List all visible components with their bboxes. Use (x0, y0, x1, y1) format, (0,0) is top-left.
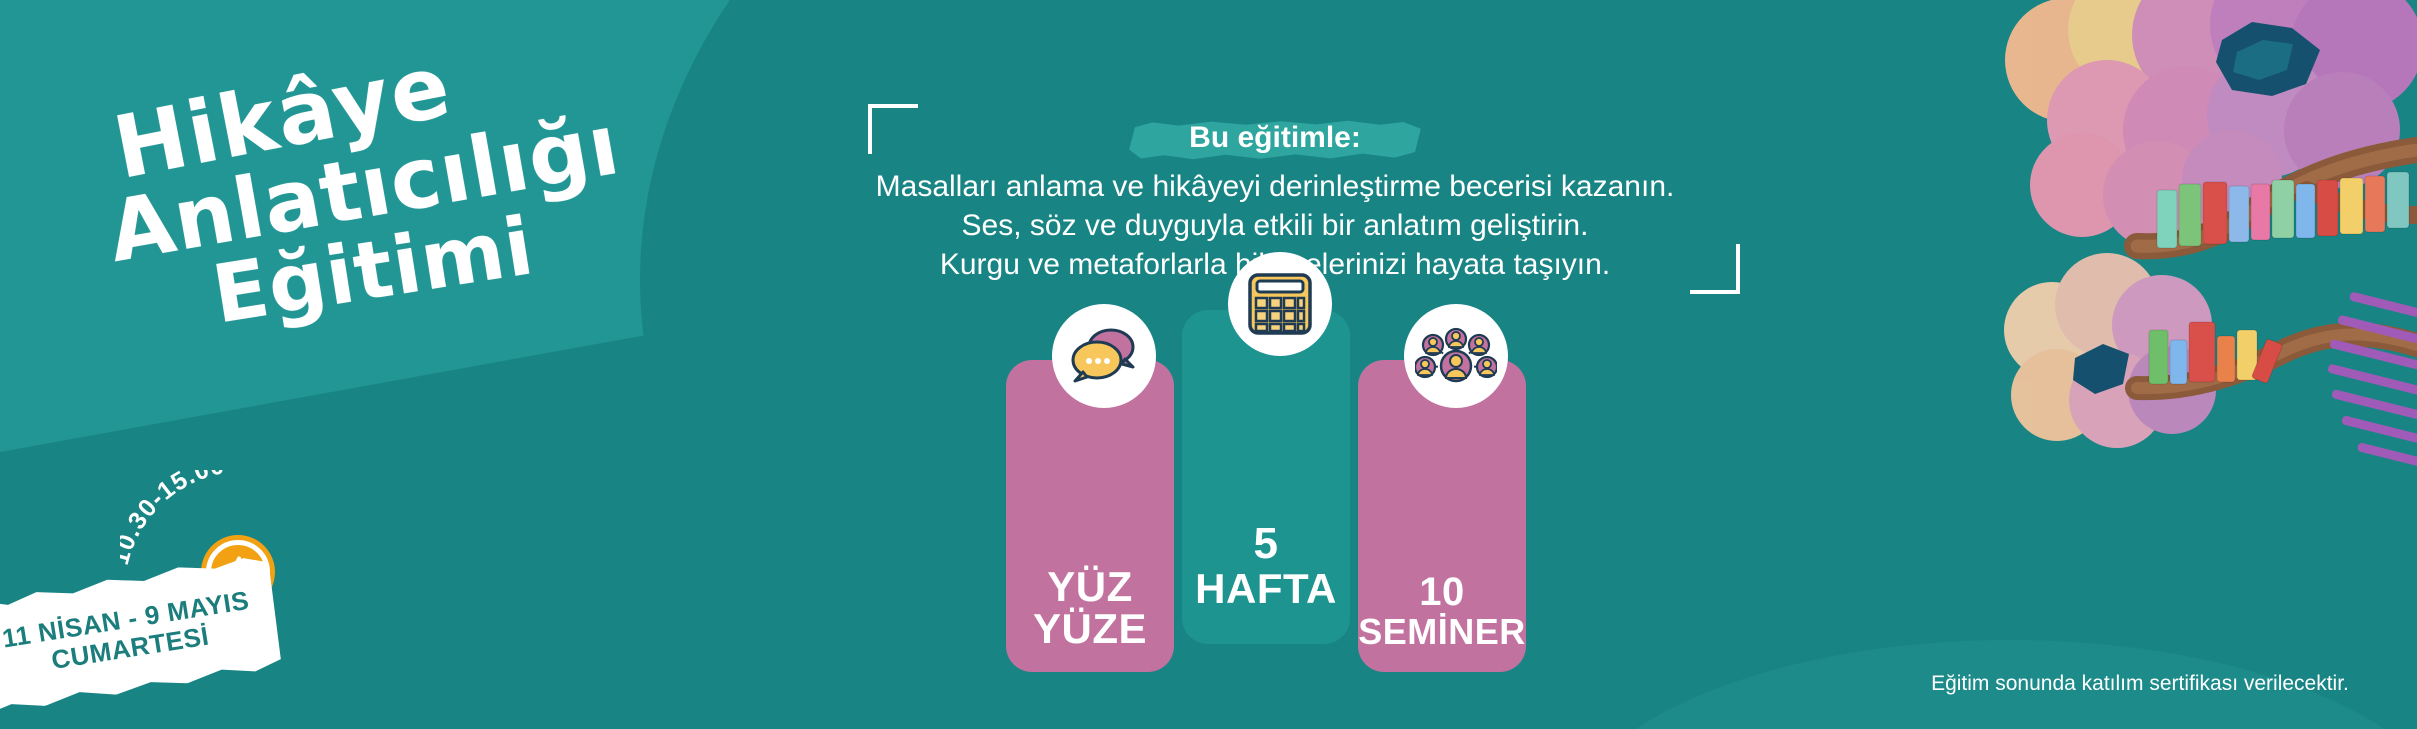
benefit-line-1: Masalları anlama ve hikâyeyi derinleştir… (860, 167, 1690, 206)
card-yuz-yuze: YÜZ YÜZE (1006, 360, 1174, 672)
certificate-note: Eğitim sonunda katılım sertifikası veril… (1880, 672, 2400, 696)
calendar-icon (1228, 252, 1332, 356)
speech-bubbles-icon (1052, 304, 1156, 408)
card-yuz-yuze-line2: YÜZE (1033, 605, 1147, 652)
card-yuz-yuze-line1: YÜZ (1047, 563, 1133, 610)
card-hafta-label: 5 HAFTA (1195, 522, 1337, 610)
book-tree-illustration (1997, 0, 2417, 470)
page-title: Hikâye Anlatıcılığı Eğitimi (98, 25, 698, 451)
headline-label: Bu eğitimle: (1163, 118, 1387, 158)
card-yuz-yuze-label: YÜZ YÜZE (1033, 566, 1147, 650)
card-seminer-line1: SEMİNER (1358, 611, 1526, 652)
card-seminer-number: 10 (1358, 572, 1526, 612)
card-hafta: 5 HAFTA (1182, 310, 1350, 644)
people-network-icon (1404, 304, 1508, 408)
benefit-line-2: Ses, söz ve duyguyla etkili bir anlatım … (860, 206, 1690, 245)
headline-wrap: Bu eğitimle: (1163, 118, 1387, 158)
card-seminer: 10 SEMİNER (1358, 360, 1526, 672)
corner-bracket-bottom-right-icon (1690, 244, 1740, 294)
card-hafta-line1: HAFTA (1195, 565, 1337, 612)
feature-cards: YÜZ YÜZE 5 HAFTA 10 SEMİNER (1000, 310, 1600, 670)
card-seminer-label: 10 SEMİNER (1358, 572, 1526, 650)
event-banner: Hikâye Anlatıcılığı Eğitimi 10.30-15.00 … (0, 0, 2417, 729)
card-hafta-number: 5 (1195, 522, 1337, 566)
